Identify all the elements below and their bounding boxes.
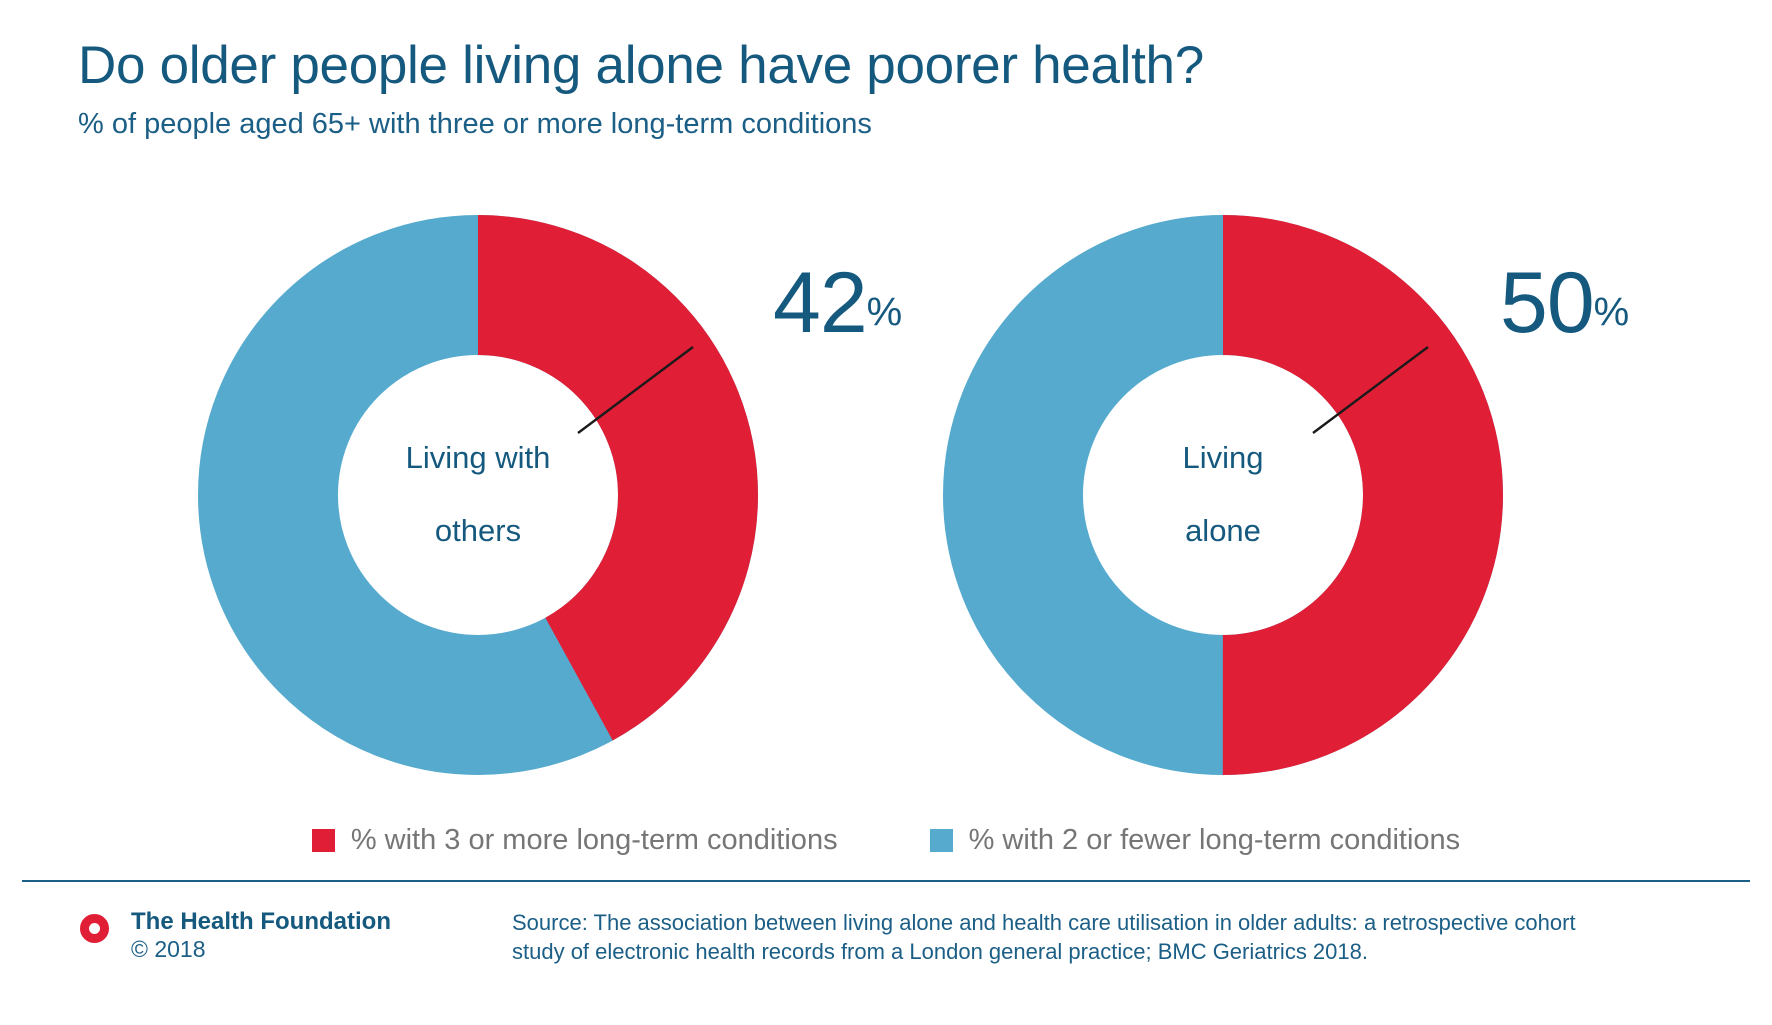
source-line-2: study of electronic health records from … xyxy=(512,937,1712,966)
brand-block: The Health Foundation © 2018 xyxy=(80,908,391,963)
donut-chart-living-alone: Living alone 50% xyxy=(893,215,1593,785)
health-foundation-logo-icon xyxy=(80,914,109,943)
value-callout-42: 42% xyxy=(773,260,902,346)
copyright-text: © 2018 xyxy=(131,936,206,962)
legend-item-3-or-more[interactable]: % with 3 or more long-term conditions xyxy=(312,826,838,855)
legend-swatch-red xyxy=(312,829,335,852)
value-callout-50: 50% xyxy=(1500,260,1629,346)
brand-name: The Health Foundation xyxy=(131,908,391,935)
footer-divider xyxy=(22,880,1750,882)
brand-text: The Health Foundation © 2018 xyxy=(131,908,391,963)
legend-label-3-or-more: % with 3 or more long-term conditions xyxy=(351,826,838,855)
header: Do older people living alone have poorer… xyxy=(78,36,1718,142)
chart-legend: % with 3 or more long-term conditions % … xyxy=(0,826,1772,855)
page-title: Do older people living alone have poorer… xyxy=(78,36,1718,95)
legend-swatch-blue xyxy=(930,829,953,852)
donut-svg-living-alone xyxy=(943,215,1503,775)
legend-label-2-or-fewer: % with 2 or fewer long-term conditions xyxy=(969,826,1461,855)
legend-item-2-or-fewer[interactable]: % with 2 or fewer long-term conditions xyxy=(930,826,1461,855)
source-line-1: Source: The association between living a… xyxy=(512,908,1712,937)
value-number: 50 xyxy=(1500,255,1594,351)
value-number: 42 xyxy=(773,255,867,351)
value-percent-sign: % xyxy=(1594,291,1630,335)
donut-svg-living-with-others xyxy=(198,215,758,775)
donut-charts-container: Living with others 42% Living alone xyxy=(0,215,1772,805)
donut-chart-living-with-others: Living with others 42% xyxy=(148,215,848,785)
footer: The Health Foundation © 2018 Source: The… xyxy=(0,898,1772,1018)
source-citation: Source: The association between living a… xyxy=(512,908,1712,966)
page-subtitle: % of people aged 65+ with three or more … xyxy=(78,107,1718,142)
